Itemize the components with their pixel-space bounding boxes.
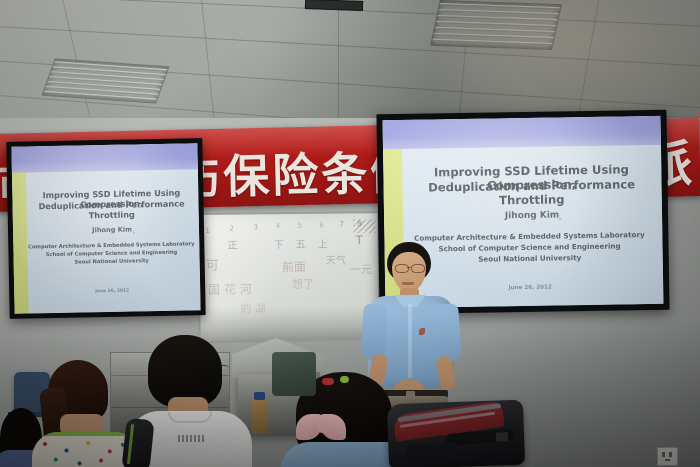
shirt-placket bbox=[408, 304, 412, 378]
hair-bow bbox=[296, 412, 350, 442]
attendee-left-woman bbox=[30, 360, 130, 467]
presentation-room-photo: 伤保险条例》及 市 派 1 2 3 4 5 6 7 8 正 下 五 上 T 可 … bbox=[0, 0, 700, 467]
chair[interactable] bbox=[272, 352, 316, 396]
wall-outlet[interactable] bbox=[657, 447, 678, 466]
attendee-center-man bbox=[128, 335, 248, 467]
presenter-left-arm bbox=[360, 303, 388, 361]
whiteboard-scribble bbox=[353, 219, 375, 233]
shoulder-bag bbox=[121, 418, 154, 467]
shirt-logo-icon bbox=[419, 328, 425, 335]
glasses-icon bbox=[395, 264, 409, 273]
whiteboard: 1 2 3 4 5 6 7 8 正 下 五 上 T 可 前面 天气 一元 国 花… bbox=[197, 211, 380, 343]
presenter-right-arm bbox=[434, 303, 462, 363]
glasses-icon bbox=[411, 264, 425, 273]
hair-tie bbox=[322, 378, 334, 385]
backpack[interactable] bbox=[387, 400, 525, 467]
bottle-cap bbox=[254, 392, 265, 400]
projection-screen-left: Improving SSD Lifetime Using Compression… bbox=[6, 138, 205, 319]
glasses-temple-icon bbox=[215, 364, 230, 377]
slide-left: Improving SSD Lifetime Using Compression… bbox=[11, 143, 200, 314]
podium-bottle bbox=[252, 398, 268, 434]
hair-clip bbox=[340, 376, 349, 383]
tshirt-brand-text bbox=[178, 435, 204, 442]
